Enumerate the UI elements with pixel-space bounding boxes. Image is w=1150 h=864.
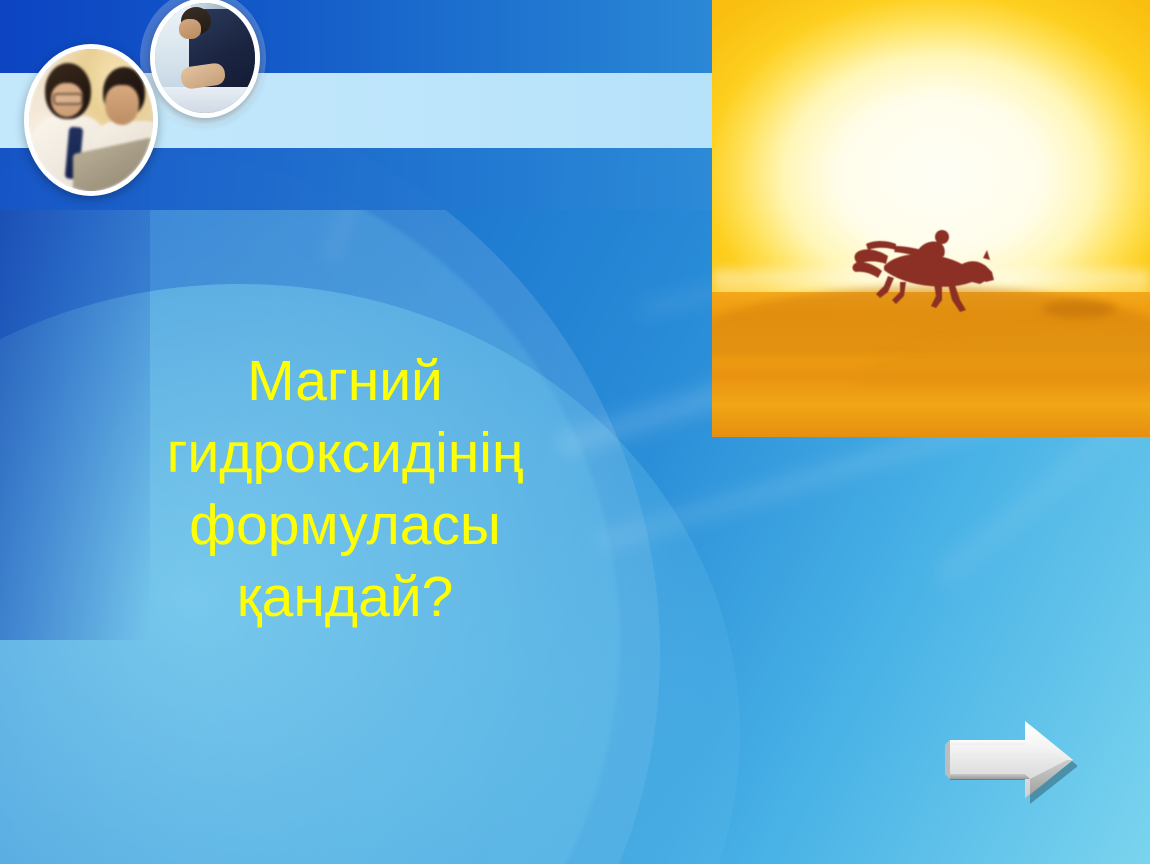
next-arrow-bevel-top	[945, 740, 1030, 745]
handshake-photo-image	[155, 3, 255, 113]
next-arrow-bevel-bottom	[945, 774, 1030, 779]
slide-canvas: Магний гидроксидінің формуласы қандай?	[0, 0, 1150, 864]
people-photo-blur-overlay	[29, 49, 153, 191]
horse-rider-silhouette-icon	[850, 228, 1010, 314]
next-arrow-button[interactable]	[941, 716, 1077, 804]
photo-circle-people	[24, 44, 158, 196]
handshake-photo-table	[155, 87, 255, 113]
sunset-ground-shadow	[1042, 300, 1116, 318]
next-arrow-shape[interactable]	[945, 721, 1073, 798]
photo-circle-handshake	[150, 0, 260, 118]
people-photo-image	[29, 49, 153, 191]
handshake-photo-face	[179, 19, 201, 39]
sunset-rider-photo	[712, 0, 1150, 437]
next-arrow-cap-left	[945, 740, 950, 779]
question-text: Магний гидроксидінің формуласы қандай?	[95, 345, 595, 633]
